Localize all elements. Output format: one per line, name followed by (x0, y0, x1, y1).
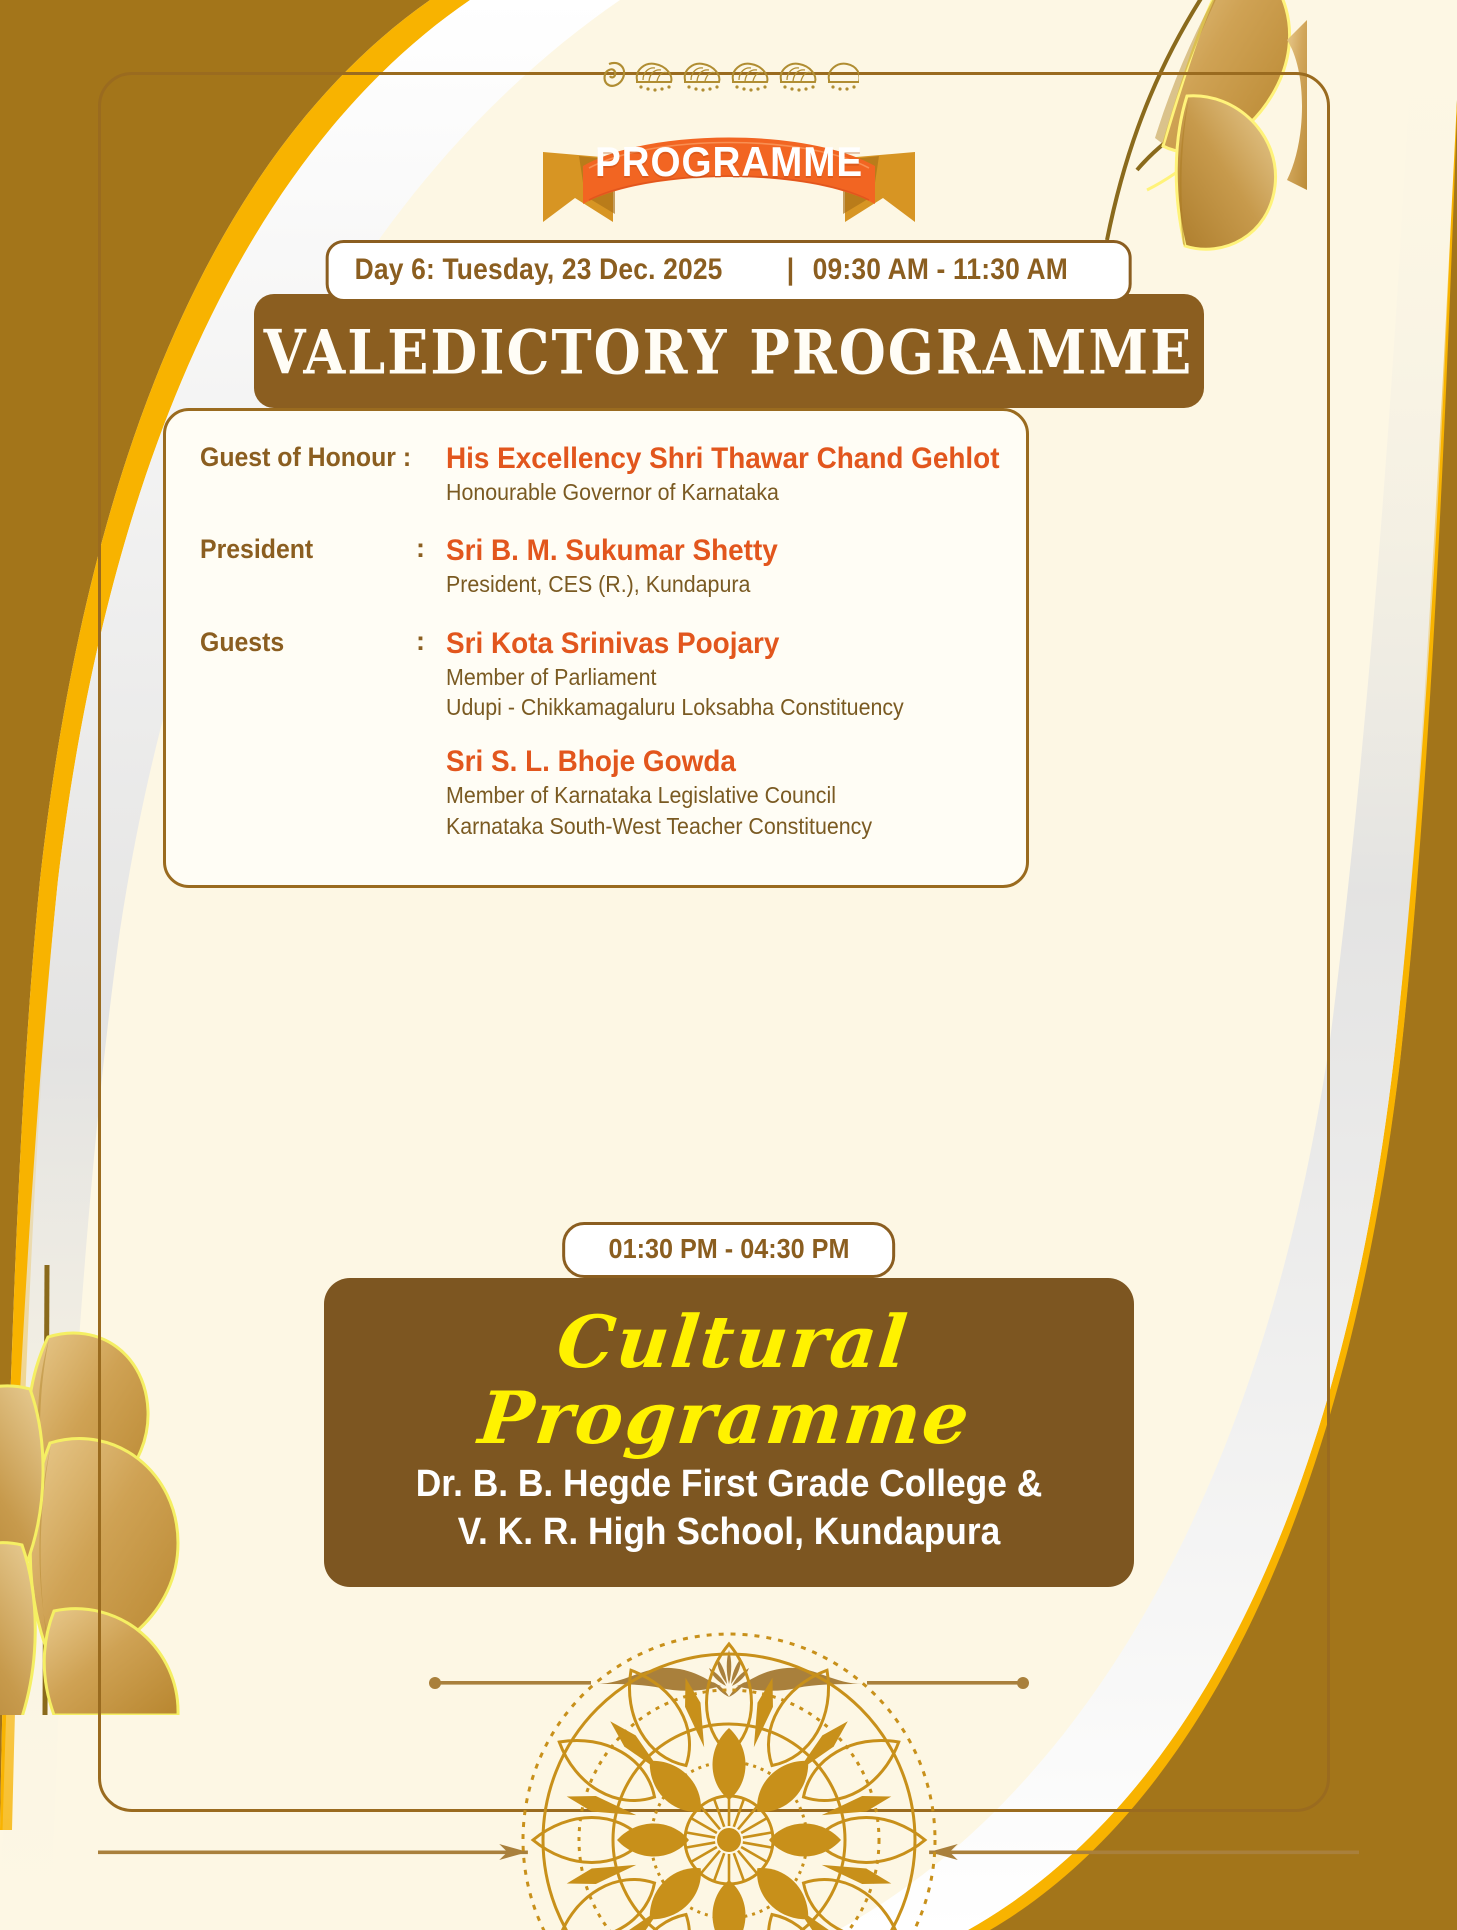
person-entry: Sri S. L. Bhoje Gowda Member of Karnatak… (446, 744, 992, 841)
detail-row-label: Guest of Honour : (200, 441, 399, 507)
person-name: Sri S. L. Bhoje Gowda (446, 744, 954, 780)
mandala-icon (509, 1620, 949, 1930)
cultural-venue-line-2: V. K. R. High School, Kundapura (370, 1509, 1086, 1557)
person-entry: Sri Kota Srinivas Poojary Member of Parl… (446, 626, 992, 723)
person-name: Sri Kota Srinivas Poojary (446, 626, 954, 662)
schedule-date-pill: Day 6: Tuesday, 23 Dec. 2025|09:30 AM - … (325, 240, 1132, 302)
page-title: Valedictory Programme (264, 316, 1194, 388)
detail-row-body: His Excellency Shri Thawar Chand Gehlot … (446, 441, 1041, 507)
paisley-border-icon (599, 58, 859, 94)
invitation-page: PROGRAMME Day 6: Tuesday, 23 Dec. 2025|0… (0, 0, 1457, 1930)
person-subtitle: Member of Parliament (446, 662, 954, 692)
cultural-title: Cultural Programme (336, 1304, 1122, 1455)
schedule-time: 09:30 AM - 11:30 AM (813, 253, 1068, 287)
cultural-venue-line-1: Dr. B. B. Hegde First Grade College & (370, 1461, 1086, 1509)
schedule-day-date: Day 6: Tuesday, 23 Dec. 2025 (354, 253, 722, 287)
person-name: Sri B. M. Sukumar Shetty (446, 533, 954, 569)
person-subtitle: President, CES (R.), Kundapura (446, 569, 954, 599)
cultural-time-pill: 01:30 PM - 04:30 PM (562, 1222, 896, 1278)
detail-row-label: Guests (200, 626, 399, 841)
detail-row-colon: : (416, 626, 446, 841)
guest-details-card: Guest of Honour : His Excellency Shri Th… (163, 408, 1029, 888)
ribbon-label: PROGRAMME (554, 138, 904, 186)
detail-row-colon: : (416, 533, 446, 599)
detail-row: Guests : Sri Kota Srinivas Poojary Membe… (200, 626, 992, 841)
programme-ribbon: PROGRAMME (539, 118, 919, 230)
cultural-time: 01:30 PM - 04:30 PM (608, 1233, 849, 1265)
person-subtitle: Member of Karnataka Legislative Council (446, 780, 954, 810)
detail-row: President : Sri B. M. Sukumar Shetty Pre… (200, 533, 992, 599)
main-title-bar: Valedictory Programme (254, 294, 1204, 408)
detail-row-label: President (200, 533, 399, 599)
detail-row-body: Sri Kota Srinivas Poojary Member of Parl… (446, 626, 992, 841)
person-name: His Excellency Shri Thawar Chand Gehlot (446, 441, 1000, 477)
bottom-mandala (509, 1620, 949, 1930)
schedule-separator: | (772, 253, 808, 287)
top-ornament (599, 58, 859, 94)
detail-row-colon (416, 441, 446, 507)
person-subtitle: Udupi - Chikkamagaluru Loksabha Constitu… (446, 692, 954, 722)
person-entry: Sri B. M. Sukumar Shetty President, CES … (446, 533, 992, 599)
person-subtitle: Honourable Governor of Karnataka (446, 477, 1000, 507)
person-subtitle: Karnataka South-West Teacher Constituenc… (446, 811, 954, 841)
cultural-programme-box: Cultural Programme Dr. B. B. Hegde First… (324, 1278, 1134, 1587)
detail-row-body: Sri B. M. Sukumar Shetty President, CES … (446, 533, 992, 599)
person-entry: His Excellency Shri Thawar Chand Gehlot … (446, 441, 1041, 507)
detail-row: Guest of Honour : His Excellency Shri Th… (200, 441, 992, 507)
